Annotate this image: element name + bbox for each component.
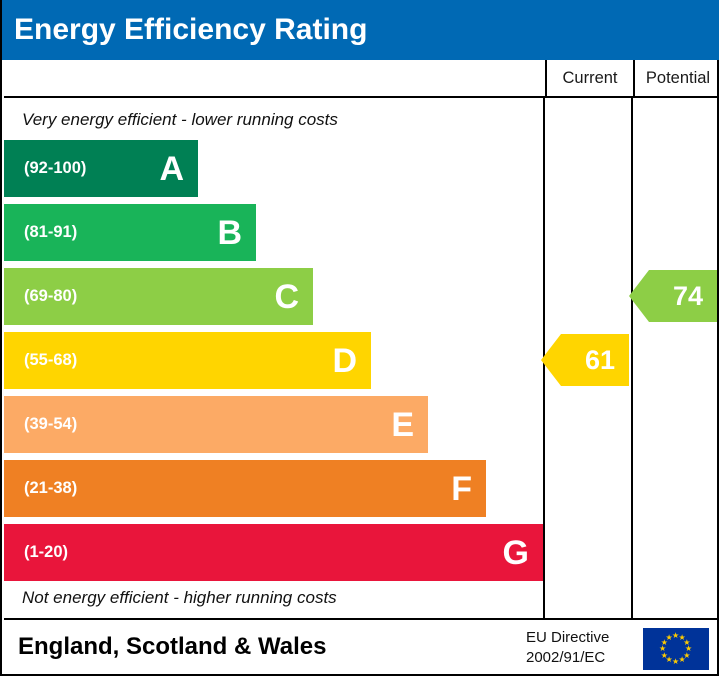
band-range-d: (55-68) (24, 351, 77, 370)
marker-value-potential: 74 (673, 281, 703, 312)
divider-potential (631, 98, 633, 618)
eu-directive-line2: 2002/91/EC (526, 648, 609, 668)
epc-rating-chart: Energy Efficiency Rating Current Potenti… (0, 0, 719, 676)
page-title: Energy Efficiency Rating (14, 13, 367, 47)
marker-arrow-icon (629, 270, 649, 322)
band-letter-b: B (217, 216, 242, 250)
marker-arrow-icon (541, 334, 561, 386)
column-header-row: Current Potential (4, 60, 719, 98)
band-letter-d: D (332, 344, 357, 378)
band-range-g: (1-20) (24, 543, 68, 562)
rating-band-g: (1-20)G (4, 524, 543, 581)
band-range-b: (81-91) (24, 223, 77, 242)
column-header-potential: Potential (633, 60, 719, 96)
rating-band-c: (69-80)C (4, 268, 313, 325)
column-header-current: Current (545, 60, 633, 96)
caption-efficient: Very energy efficient - lower running co… (22, 110, 338, 130)
band-letter-g: G (503, 536, 529, 570)
chart-footer: England, Scotland & Wales EU Directive 2… (4, 618, 719, 674)
marker-potential: 74 (649, 270, 717, 322)
rating-band-b: (81-91)B (4, 204, 256, 261)
column-header-current-label: Current (562, 69, 617, 88)
column-header-potential-label: Potential (646, 69, 710, 88)
band-letter-e: E (391, 408, 414, 442)
eu-flag-icon: ★★★★★★★★★★★★ (643, 628, 709, 670)
band-range-f: (21-38) (24, 479, 77, 498)
marker-current: 61 (561, 334, 629, 386)
chart-body: Very energy efficient - lower running co… (4, 98, 719, 618)
country-label: England, Scotland & Wales (18, 633, 326, 661)
caption-inefficient: Not energy efficient - higher running co… (22, 588, 337, 608)
marker-value-current: 61 (585, 345, 615, 376)
band-range-c: (69-80) (24, 287, 77, 306)
chart-header: Energy Efficiency Rating (2, 0, 719, 60)
band-range-a: (92-100) (24, 159, 86, 178)
band-letter-a: A (159, 152, 184, 186)
eu-directive: EU Directive 2002/91/EC (526, 628, 609, 668)
rating-bands: (92-100)A(81-91)B(69-80)C(55-68)D(39-54)… (4, 140, 543, 588)
eu-directive-line1: EU Directive (526, 628, 609, 648)
band-letter-c: C (274, 280, 299, 314)
rating-band-e: (39-54)E (4, 396, 428, 453)
band-letter-f: F (451, 472, 472, 506)
star-icon: ★ (672, 658, 679, 666)
star-icon: ★ (666, 634, 673, 642)
rating-band-a: (92-100)A (4, 140, 198, 197)
band-range-e: (39-54) (24, 415, 77, 434)
star-icon: ★ (679, 656, 686, 664)
rating-band-f: (21-38)F (4, 460, 486, 517)
rating-band-d: (55-68)D (4, 332, 371, 389)
